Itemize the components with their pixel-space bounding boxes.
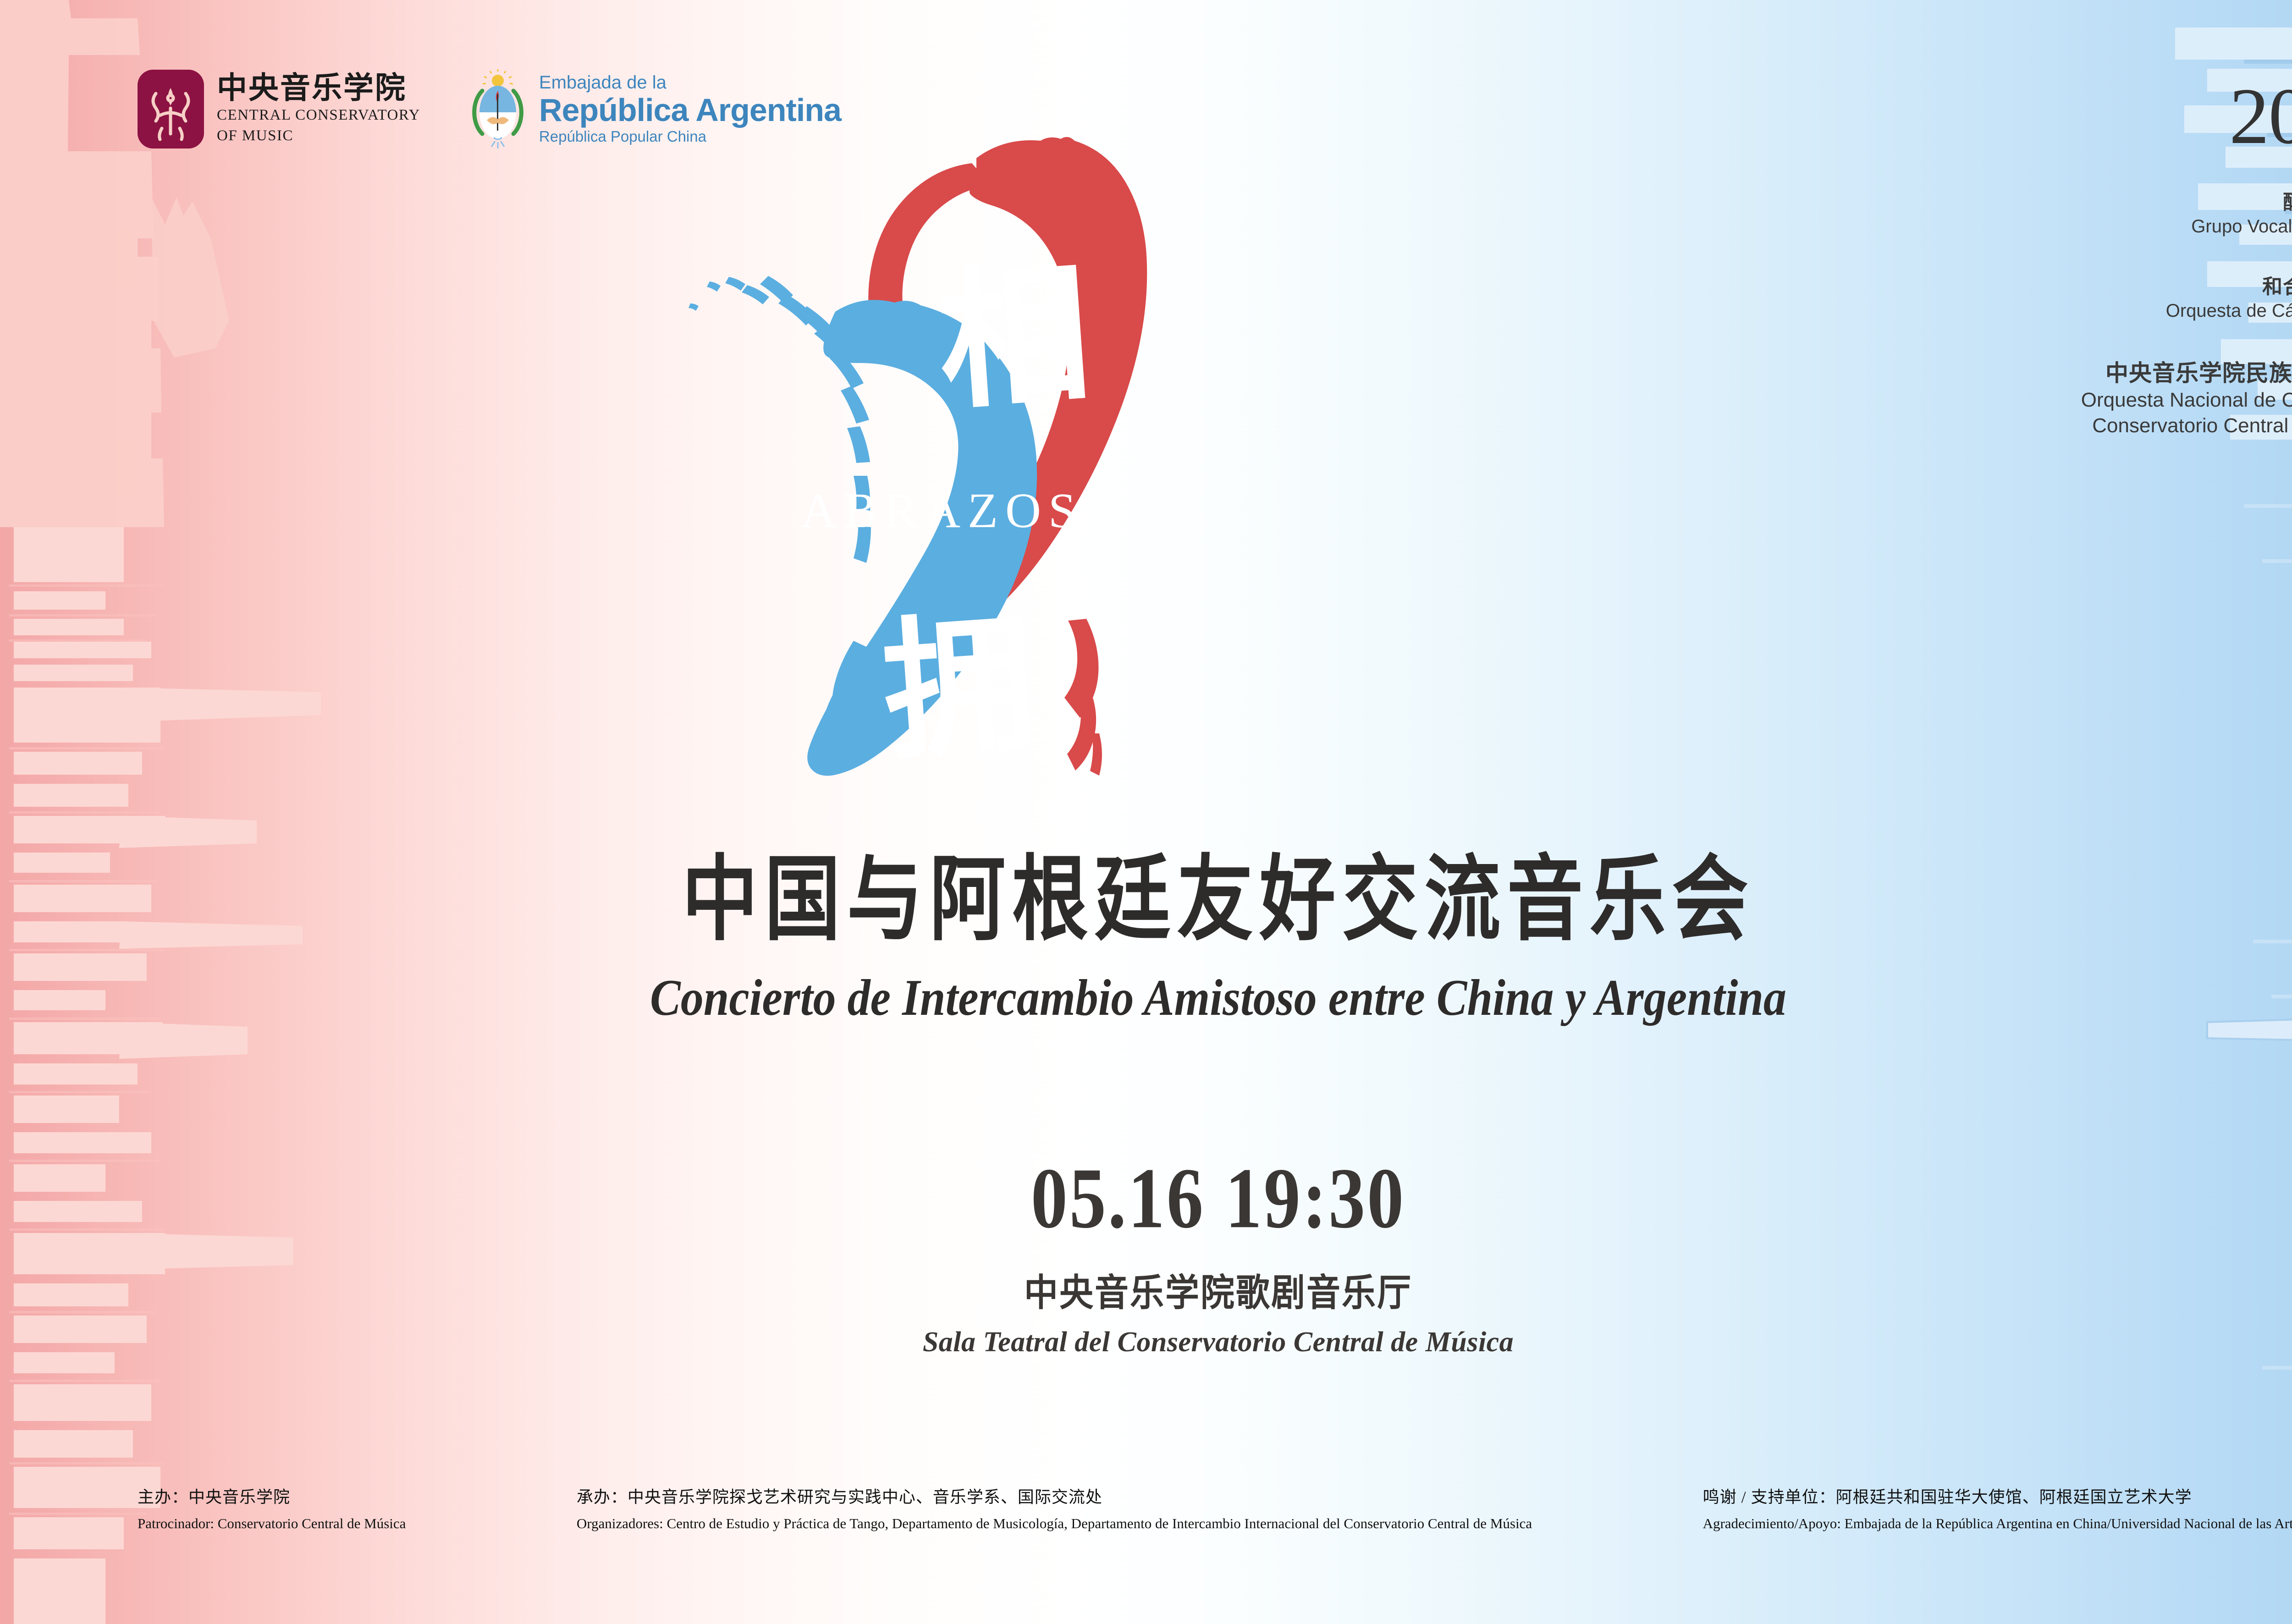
calligraphy-char-top: 相 — [933, 250, 1096, 428]
concert-title-cn: 中国与阿根廷友好交流音乐会 — [0, 850, 2292, 951]
concert-datetime: 05.16 19:30 — [0, 1148, 2292, 1248]
venue-name-cn: 中央音乐学院歌剧音乐厅 — [0, 1263, 2292, 1317]
abrazos-wordmark: ABRAZOS — [801, 484, 1083, 538]
embassy-line-1: Embajada de la — [539, 72, 841, 93]
ccom-logo-mark — [138, 70, 204, 149]
credit-organizers-es: Organizadores: Centro de Estudio y Práct… — [577, 1513, 1532, 1535]
credits-footer: 主办：中央音乐学院 Patrocinador: Conservatorio Ce… — [138, 1485, 2292, 1535]
credit-support-cn: 鸣谢 / 支持单位：阿根廷共和国驻华大使馆、阿根廷国立艺术大学 — [1703, 1485, 2292, 1509]
credit-sponsor-cn: 主办：中央音乐学院 — [138, 1485, 406, 1509]
title-block: 中国与阿根廷友好交流音乐会 Concierto de Intercambio A… — [0, 850, 2292, 1021]
credit-support: 鸣谢 / 支持单位：阿根廷共和国驻华大使馆、阿根廷国立艺术大学 Agradeci… — [1703, 1485, 2292, 1535]
embassy-line-2: República Argentina — [539, 93, 841, 128]
ensemble-1-name-es: Grupo Vocal Pure Voice — [1813, 215, 2292, 238]
ccom-logo-text: 中央音乐学院 CENTRAL CONSERVATORY OF MUSIC — [217, 73, 420, 145]
ensemble-3-name-es-line2: Conservatorio Central de Música — [1813, 413, 2292, 439]
ensemble-2-name-es: Orquesta de Cámara Hehe — [1813, 299, 2292, 323]
calligraphy-char-bottom: 拥 — [878, 601, 1041, 778]
concert-title-es: Concierto de Intercambio Amistoso entre … — [0, 968, 2292, 1027]
venue-name-es: Sala Teatral del Conservatorio Central d… — [0, 1326, 2292, 1359]
ensemble-3-name-es-line1: Orquesta Nacional de Cámara del — [1813, 387, 2292, 413]
venue-block: 中央音乐学院歌剧音乐厅 Sala Teatral del Conservator… — [0, 1265, 2292, 1359]
concert-poster: 中央音乐学院 CENTRAL CONSERVATORY OF MUSIC — [0, 0, 2292, 1624]
credit-sponsor-es: Patrocinador: Conservatorio Central de M… — [138, 1513, 406, 1535]
ensemble-3-name-cn: 中央音乐学院民族室内乐团 — [1813, 359, 2292, 388]
credit-sponsor: 主办：中央音乐学院 Patrocinador: Conservatorio Ce… — [138, 1485, 406, 1535]
ensemble-item-3: 中央音乐学院民族室内乐团 Orquesta Nacional de Cámara… — [1813, 359, 2292, 439]
credit-organizers-cn: 承办：中央音乐学院探戈艺术研究与实践中心、音乐学系、国际交流处 — [577, 1485, 1532, 1509]
ccom-name-cn: 中央音乐学院 — [217, 73, 420, 104]
ensemble-2-name-cn: 和合室内乐团 — [1813, 274, 2292, 299]
abrazos-brush-logo: 相 拥 ABRAZOS — [656, 124, 1206, 839]
chinese-architecture-silhouette — [0, 0, 348, 1624]
ensemble-1-name-cn: 醇和声乐团 — [1813, 190, 2292, 215]
argentina-coat-of-arms — [468, 69, 527, 149]
credit-organizers: 承办：中央音乐学院探戈艺术研究与实践中心、音乐学系、国际交流处 Organiza… — [577, 1485, 1532, 1535]
credit-support-es: Agradecimiento/Apoyo: Embajada de la Rep… — [1703, 1513, 2292, 1535]
year-label: 2023 — [1813, 78, 2292, 154]
ensembles-panel: 2023 醇和声乐团 Grupo Vocal Pure Voice 和合室内乐团… — [1813, 78, 2292, 439]
ccom-name-en-line1: CENTRAL CONSERVATORY — [217, 106, 420, 124]
ccom-logo: 中央音乐学院 CENTRAL CONSERVATORY OF MUSIC — [138, 70, 420, 149]
ccom-name-en-line2: OF MUSIC — [217, 127, 420, 145]
ensemble-item-1: 醇和声乐团 Grupo Vocal Pure Voice — [1813, 190, 2292, 238]
ensemble-item-2: 和合室内乐团 Orquesta de Cámara Hehe — [1813, 274, 2292, 323]
